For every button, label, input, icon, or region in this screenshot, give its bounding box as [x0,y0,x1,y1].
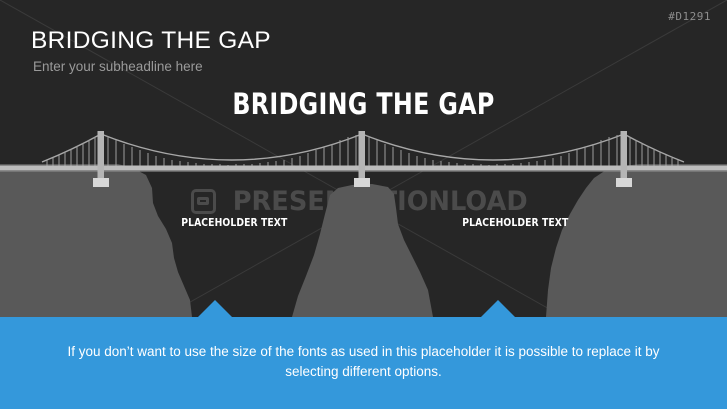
placeholder-label-1[interactable]: PLACEHOLDER TEXT [181,217,287,229]
bridge-towers [93,131,632,187]
tower-right-base [616,178,632,187]
landmass-right [546,164,727,317]
slide-id-code: #D1291 [668,10,711,23]
placeholder-label-2[interactable]: PLACEHOLDER TEXT [462,217,568,229]
footer-text[interactable]: If you don’t want to use the size of the… [50,342,677,382]
page-title[interactable]: BRIDGING THE GAP [31,27,271,55]
tower-right [621,131,628,183]
page-subtitle[interactable]: Enter your subheadline here [33,59,203,74]
tower-center-base [354,178,370,187]
footer-notch-right [481,300,515,317]
landmass-center [292,184,433,317]
tower-center [359,131,366,183]
slide-canvas: #D1291 BRIDGING THE GAP Enter your subhe… [0,0,727,409]
tower-left-base [93,178,109,187]
tower-left [98,131,105,183]
footer-notch-left [198,300,232,317]
footer-band: If you don’t want to use the size of the… [0,317,727,409]
center-title[interactable]: BRIDGING THE GAP [65,87,661,121]
